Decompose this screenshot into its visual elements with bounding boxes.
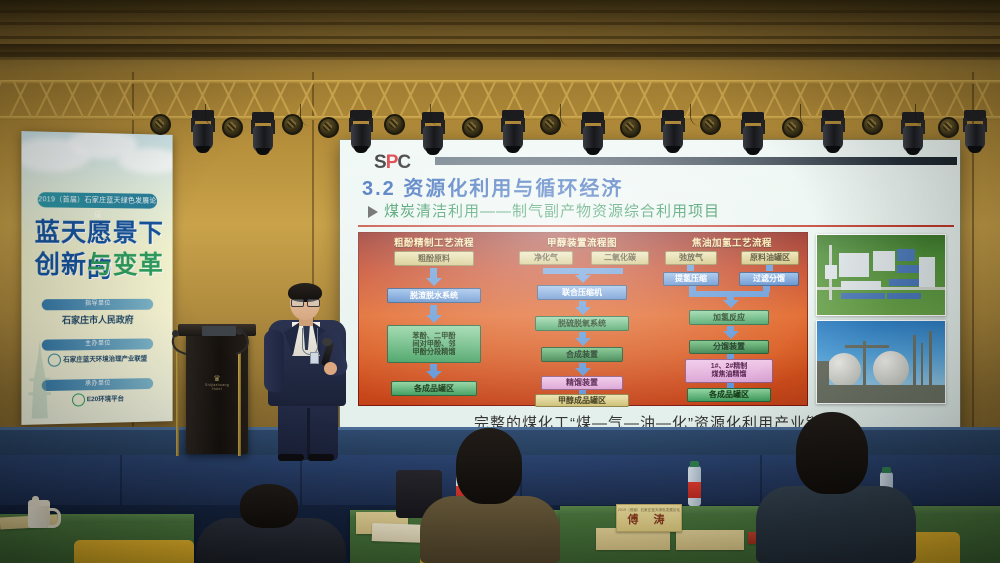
light-cable — [430, 104, 441, 126]
banner-headline-2: 创新与变革 — [30, 245, 169, 281]
mic-stand — [238, 352, 241, 456]
audience-shoulders — [420, 496, 560, 563]
tower-silhouette-icon — [25, 339, 53, 418]
light-cable — [300, 104, 311, 126]
flow-node: 苯酚、二甲酚 间对甲酚、邻 甲酚分段精馏 — [387, 325, 481, 363]
par-can-light — [782, 117, 803, 138]
par-can-light — [700, 114, 721, 135]
light-cable — [690, 104, 701, 126]
tea-mug-knob — [32, 496, 39, 501]
flow-column-header: 焦油加氢工艺流程 — [659, 235, 805, 249]
flow-node: 脱硫脱氧系统 — [535, 316, 629, 331]
org-name-text: E20环境平台 — [87, 396, 124, 404]
flow-node: 提氢压缩 — [663, 272, 719, 286]
light-cable — [800, 104, 811, 126]
par-can-light — [150, 114, 171, 135]
org-tag: 承办单位 — [42, 378, 153, 391]
flow-arrow-head — [426, 371, 442, 379]
slide-surface: SPC 3.2 资源化利用与循环经济 煤炭清洁利用——制气副产物资源综合利用项目… — [340, 140, 960, 440]
truss-diagonal — [373, 82, 392, 119]
par-can-light — [540, 114, 561, 135]
lectern-brand: Shijiazhuang Hotel — [200, 383, 234, 391]
flow-node: 1#、2#精制 煤焦油精馏 — [685, 359, 773, 383]
photo-chemical-plant — [816, 320, 946, 404]
flow-arrow-stem — [763, 286, 770, 292]
audience-head — [796, 412, 868, 494]
org-tag: 主办单位 — [42, 338, 153, 350]
moving-head-light — [962, 110, 988, 156]
moving-head-light — [660, 110, 686, 156]
banner-headline-2b: 与变革 — [87, 251, 164, 279]
photo-plant-aerial — [816, 234, 946, 316]
flow-node: 精馏装置 — [541, 376, 623, 390]
gooseneck-mic-arms — [166, 328, 266, 358]
org-name: E20环境平台 — [42, 392, 153, 407]
audience-head — [456, 428, 522, 504]
par-can-light — [862, 114, 883, 135]
header-bar — [435, 157, 957, 165]
audience-chair-yellow — [74, 540, 194, 563]
par-can-light — [938, 117, 959, 138]
moving-head-light — [740, 112, 766, 158]
event-banner: 2019（首届）石家庄蓝天绿色发展论坛 蓝天愿景下的 创新与变革 指导单位 石家… — [21, 131, 172, 425]
audience-head — [240, 484, 298, 528]
org-name: 石家庄蓝天环境治理产业联盟 — [42, 352, 153, 367]
light-cable — [915, 104, 926, 126]
conference-photo: /*diagonals injected below*/ SPC 3.2 资源化… — [0, 0, 1000, 563]
truss-diagonal — [321, 82, 340, 119]
process-flow-panel: 粗酚精制工艺流程 粗酚原料 脱渣脱水系统 苯酚、二甲酚 间对甲酚、邻 甲酚分段精… — [358, 232, 808, 406]
flow-node: 过滤分馏 — [739, 272, 799, 286]
speaker-shoe — [278, 454, 304, 461]
logo-letter-c: C — [397, 152, 410, 173]
banner-subtitle-pill: 2019（首届）石家庄蓝天绿色发展论坛 — [38, 192, 157, 209]
table-nameplate: 2019（首届）石家庄蓝天绿色发展论坛 傅 涛 — [616, 504, 682, 532]
banner-org-guidance: 指导单位 石家庄市人民政府 — [42, 299, 153, 327]
banner-org-host: 主办单位 石家庄蓝天环境治理产业联盟 — [42, 338, 153, 366]
light-cable — [205, 104, 216, 126]
nameplate-name: 傅 涛 — [617, 513, 681, 527]
ceiling-slat — [0, 22, 1000, 25]
flow-arrow-stem — [689, 286, 696, 292]
banner-headline-2a: 创新 — [35, 251, 87, 279]
bottle-cap — [690, 461, 699, 467]
truss-diagonal — [0, 82, 2, 119]
ceiling-slat — [0, 10, 1000, 13]
truss-diagonal — [529, 82, 548, 119]
bullet-triangle-icon — [368, 206, 378, 218]
flow-node: 分馏装置 — [689, 340, 769, 354]
flow-arrow-head — [575, 338, 591, 346]
audience-shoulders — [756, 486, 916, 563]
flow-node: 弛放气 — [665, 251, 717, 265]
light-cable — [560, 104, 571, 126]
truss-diagonal — [633, 82, 652, 119]
flow-column-methanol: 甲醇装置流程图 净化气 二氧化碳 联合压缩机 脱硫脱氧系统 合成装置 精馏装置 — [509, 235, 655, 403]
ceiling-slat — [0, 36, 1000, 39]
flow-node: 加氢反应 — [689, 310, 769, 325]
truss-diagonal — [35, 82, 54, 119]
e20-logo-icon — [72, 393, 85, 406]
org-name: 石家庄市人民政府 — [42, 313, 153, 327]
truss-diagonal — [399, 82, 418, 119]
truss-diagonal — [477, 82, 496, 119]
flow-node: 粗酚原料 — [394, 251, 474, 266]
flow-arrow-head — [575, 275, 591, 283]
slide-subtitle: 煤炭清洁利用——制气副产物资源综合利用项目 — [368, 200, 720, 221]
slide-subtitle-text: 煤炭清洁利用——制气副产物资源综合利用项目 — [384, 203, 720, 220]
moving-head-light — [500, 110, 526, 156]
flow-arrow-head — [575, 307, 591, 315]
flow-arrow-head — [723, 331, 739, 339]
truss-diagonal — [139, 82, 158, 119]
flow-arrow-stem — [687, 265, 694, 271]
moving-head-light — [580, 112, 606, 158]
org-tag: 指导单位 — [42, 299, 153, 311]
flow-arrow-head — [426, 315, 442, 323]
speaker-glasses-icon — [291, 299, 319, 305]
flow-node: 合成装置 — [541, 347, 623, 362]
flow-node: 净化气 — [519, 251, 573, 265]
crown-icon: ♛ — [200, 374, 234, 383]
moving-head-light — [348, 110, 374, 156]
logo-letter-p: P — [386, 152, 398, 173]
truss-diagonal — [61, 82, 80, 119]
speaker-lanyard — [302, 328, 318, 355]
flow-node: 原料油罐区 — [741, 251, 799, 265]
truss-diagonal — [165, 82, 184, 119]
par-can-light — [318, 117, 339, 138]
flow-node: 各成品罐区 — [687, 388, 771, 402]
title-divider — [358, 225, 954, 227]
truss-diagonal — [451, 82, 470, 119]
speaker-arm-left — [264, 330, 284, 392]
truss-diagonal — [9, 82, 28, 119]
par-can-light — [222, 117, 243, 138]
flow-node: 各成品罐区 — [391, 381, 477, 396]
tea-mug-handle — [48, 508, 61, 528]
par-can-light — [462, 117, 483, 138]
par-can-light — [384, 114, 405, 135]
spc-logo: SPC — [374, 152, 410, 174]
speaker-person — [262, 286, 354, 458]
speaker-hand — [324, 362, 337, 375]
truss-diagonal — [87, 82, 106, 119]
banner-org-organizer: 承办单位 E20环境平台 — [42, 378, 153, 407]
truss-diagonal — [867, 82, 886, 119]
flow-column-header: 甲醇装置流程图 — [509, 235, 655, 249]
audience-person-right — [756, 412, 916, 563]
flow-arrow-head — [723, 300, 739, 308]
flow-column-tar-hydrogenation: 焦油加氢工艺流程 弛放气 原料油罐区 提氢压缩 过滤分馏 加氢反应 分馏装置 — [659, 235, 805, 403]
audience-person-center — [420, 428, 560, 563]
flow-arrow-head — [575, 368, 591, 376]
truss-diagonal — [945, 82, 964, 119]
truss-diagonal — [217, 82, 236, 119]
moving-head-light — [820, 110, 846, 156]
slide-title: 3.2 资源化利用与循环经济 — [362, 172, 623, 201]
truss-diagonal — [711, 82, 730, 119]
speaker-badge — [310, 352, 319, 364]
notepad — [676, 530, 744, 550]
flow-node: 甲醇成品罐区 — [535, 394, 629, 407]
flow-arrow-stem — [766, 265, 773, 271]
microphone-capsule — [322, 338, 332, 346]
lectern-crest: ♛ Shijiazhuang Hotel — [200, 374, 234, 392]
speaker-shoe — [308, 454, 334, 461]
flow-node: 脱渣脱水系统 — [387, 288, 481, 303]
flow-column-header: 粗酚精制工艺流程 — [361, 235, 507, 249]
truss-diagonal — [607, 82, 626, 119]
truss-chord — [0, 80, 1000, 84]
org-name-text: 石家庄蓝天环境治理产业联盟 — [63, 356, 147, 364]
truss-shadow — [0, 44, 1000, 60]
bottle-label — [688, 482, 701, 498]
audience-person-left — [196, 484, 346, 563]
projection-screen: SPC 3.2 资源化利用与循环经济 煤炭清洁利用——制气副产物资源综合利用项目… — [340, 140, 960, 440]
flow-node: 二氧化碳 — [591, 251, 649, 265]
truss-diagonal — [113, 82, 132, 119]
flow-column-phenol: 粗酚精制工艺流程 粗酚原料 脱渣脱水系统 苯酚、二甲酚 间对甲酚、邻 甲酚分段精… — [361, 235, 507, 403]
flow-node: 联合压缩机 — [537, 285, 627, 300]
logo-letter-s: S — [374, 152, 386, 173]
moving-head-light — [250, 112, 276, 158]
par-can-light — [620, 117, 641, 138]
speaker-leg-split — [307, 408, 310, 458]
flow-arrow-head — [426, 278, 442, 286]
mic-stand — [176, 352, 179, 456]
